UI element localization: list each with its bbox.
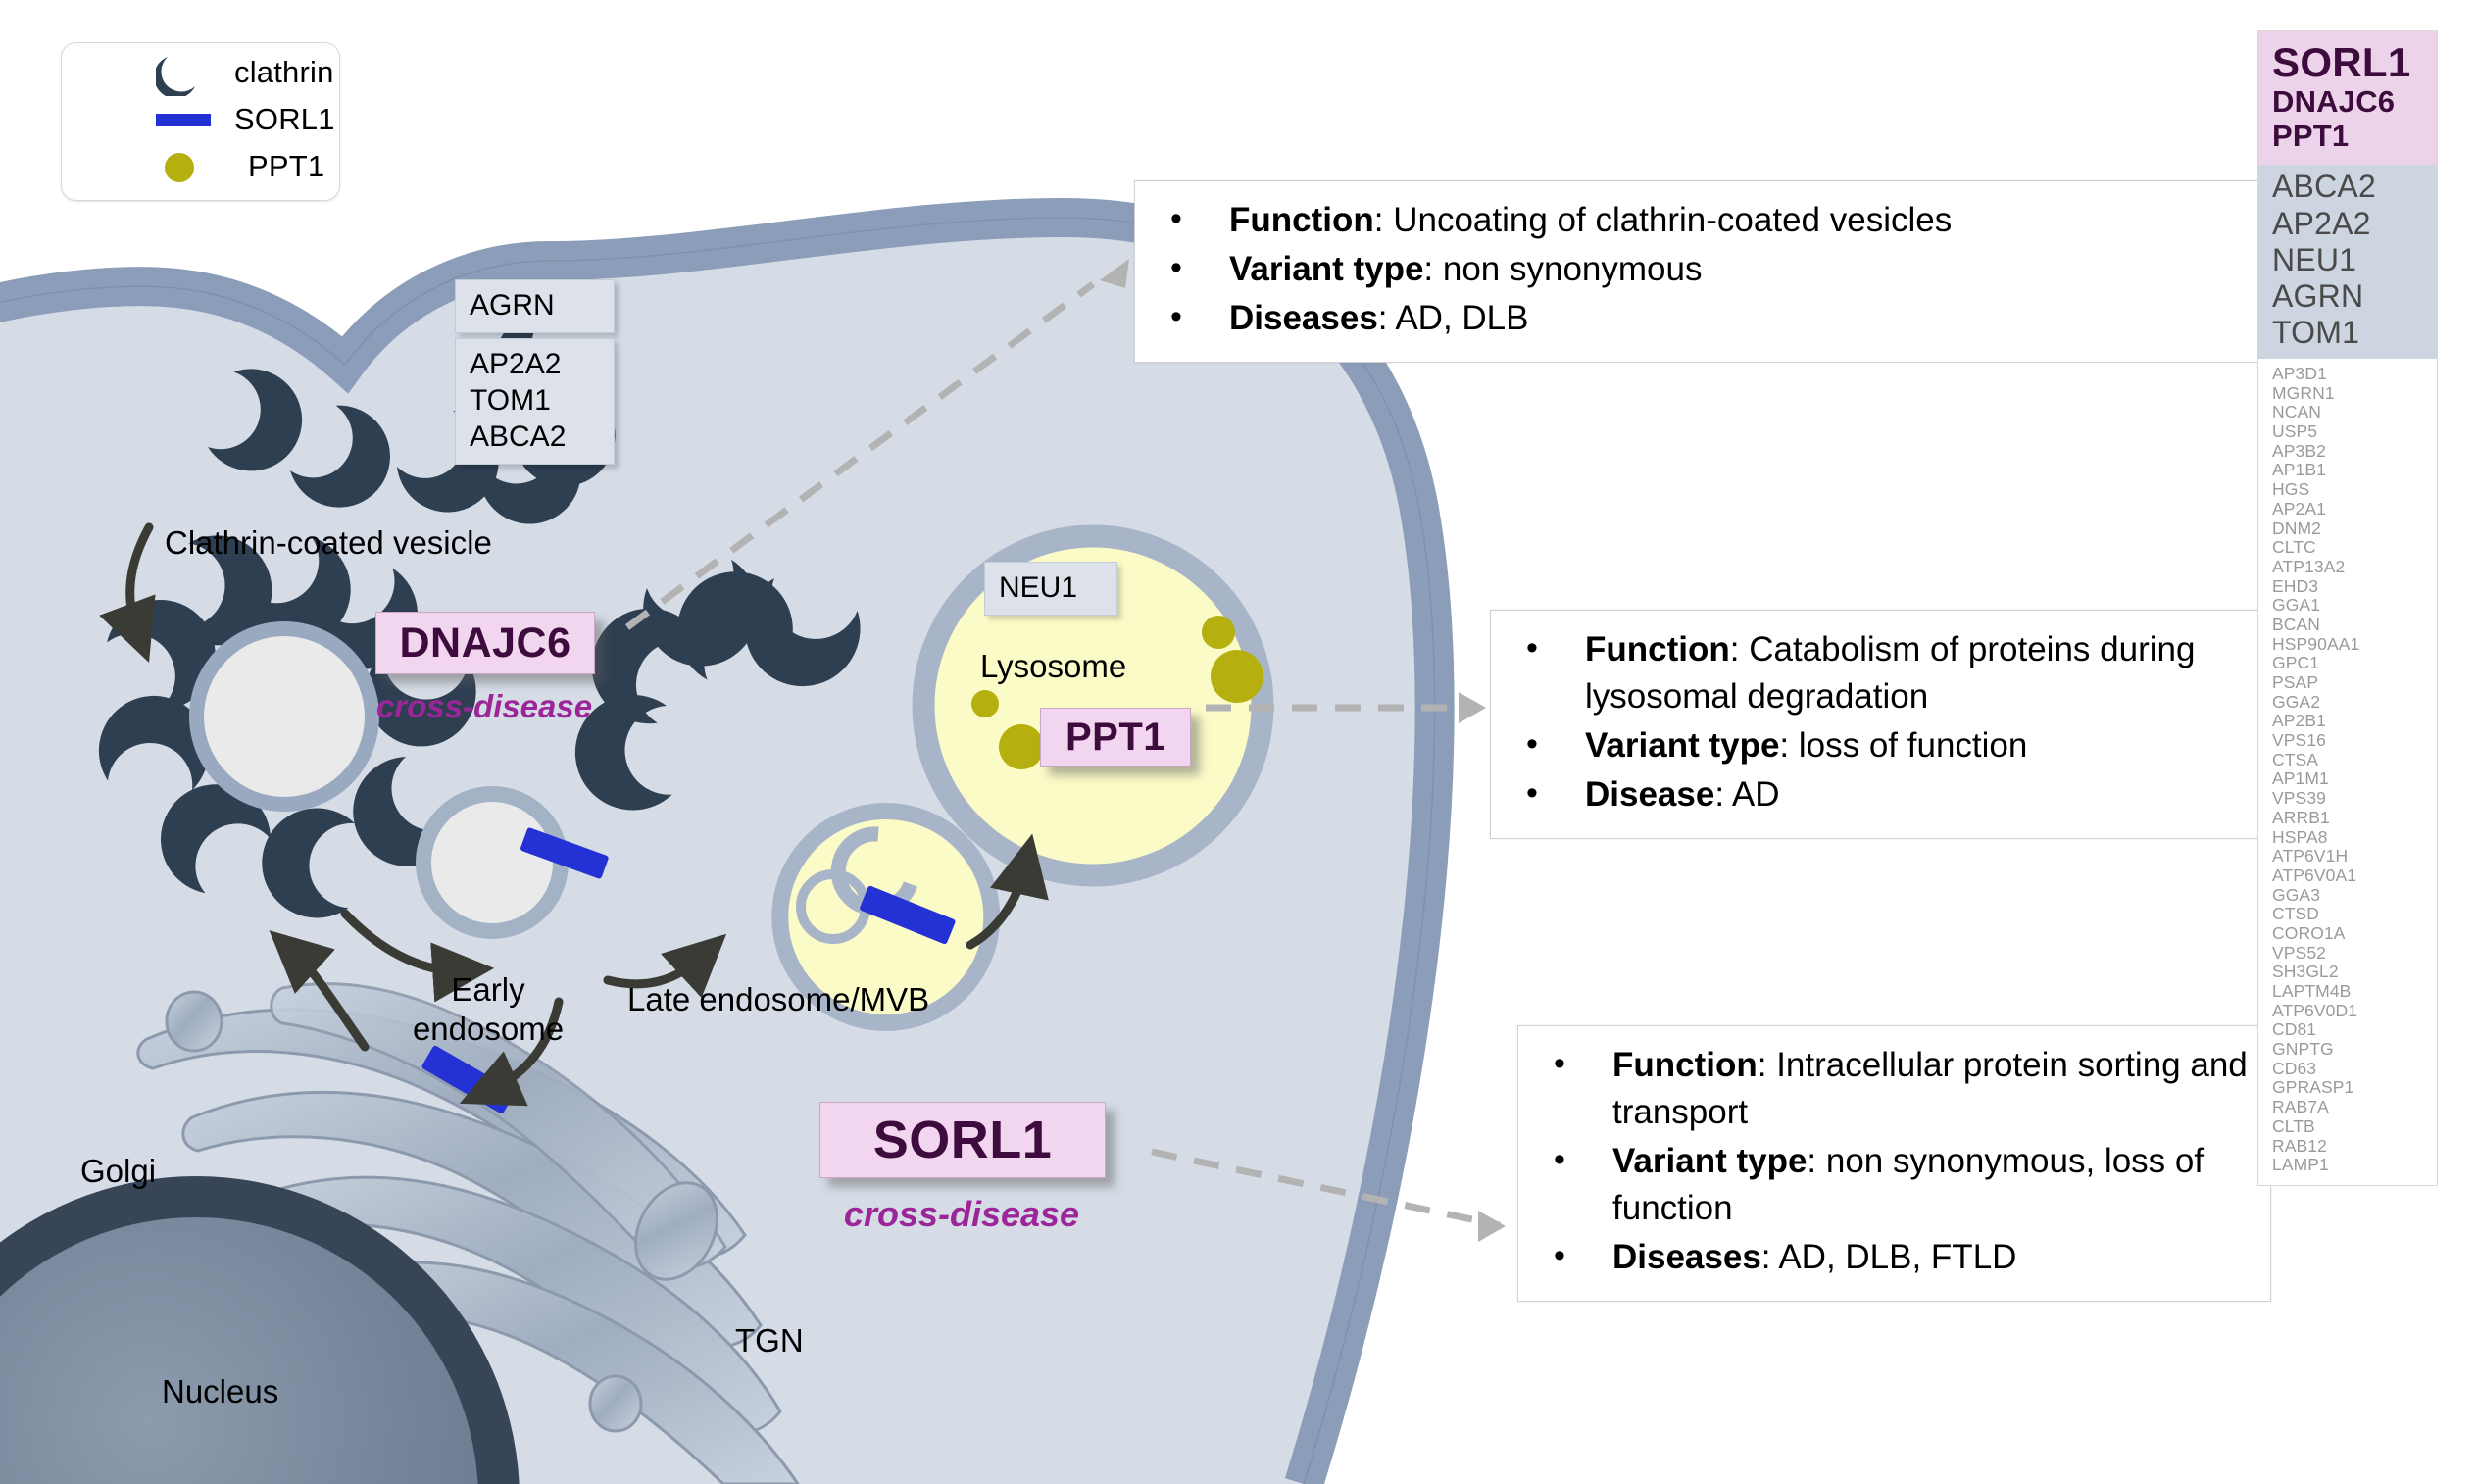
gene-list-item[interactable]: HSP90AA1 (2272, 635, 2437, 655)
label-golgi: Golgi (80, 1152, 156, 1191)
membrane-tag-agrn: AGRN (455, 279, 615, 333)
callout-sep: : (1779, 726, 1798, 765)
callout-ppt1: Function: Catabolism of proteins during … (1490, 610, 2260, 839)
diagram-canvas: clathrin SORL1 PPT1 AGRN AP2A2 TOM1 ABCA… (0, 0, 2477, 1484)
gene-list-item[interactable]: NCAN (2272, 403, 2437, 422)
legend-panel: clathrin SORL1 PPT1 (61, 42, 340, 201)
legend-item-clathrin: clathrin (62, 49, 339, 96)
gene-list-item[interactable]: AP3D1 (2272, 365, 2437, 384)
gene-list-item[interactable]: GGA1 (2272, 596, 2437, 616)
gene-list-item[interactable]: ABCA2 (2272, 169, 2437, 205)
callout-line: Diseases: AD, DLB, FTLD (1540, 1234, 2251, 1281)
gene-highlight-ppt1[interactable]: PPT1 (1040, 708, 1191, 767)
callout-line: Function: Uncoating of clathrin-coated v… (1157, 197, 2279, 244)
label-lysosome: Lysosome (980, 647, 1126, 686)
callout-sep: : (1378, 299, 1396, 337)
gene-highlight-dnajc6[interactable]: DNAJC6 (375, 612, 595, 674)
callout-sep: : (1374, 201, 1393, 239)
callout-value: loss of function (1799, 726, 2027, 765)
gene-list-item[interactable]: AP2A2 (2272, 206, 2437, 242)
gene-list-item[interactable]: NEU1 (2272, 242, 2437, 278)
gene-list-panel[interactable]: SORL1 DNAJC6 PPT1 ABCA2 AP2A2 NEU1 AGRN … (2257, 30, 2438, 1186)
gene-list-item[interactable]: TOM1 (2272, 315, 2437, 351)
legend-label-ppt1: PPT1 (248, 149, 324, 184)
gene-list-item[interactable]: VPS52 (2272, 944, 2437, 964)
gene-list-item[interactable]: VPS16 (2272, 731, 2437, 751)
gene-list-item[interactable]: CLTC (2272, 538, 2437, 558)
gene-list-item[interactable]: CORO1A (2272, 924, 2437, 944)
callout-label: Function (1612, 1046, 1758, 1084)
gene-list-item[interactable]: AP1M1 (2272, 769, 2437, 789)
legend-item-ppt1: PPT1 (62, 143, 339, 190)
callout-label: Diseases (1612, 1238, 1761, 1276)
gene-list-item[interactable]: RAB12 (2272, 1137, 2437, 1157)
label-nucleus: Nucleus (162, 1372, 278, 1411)
callout-label: Variant type (1612, 1142, 1807, 1180)
gene-list-item[interactable]: GGA2 (2272, 693, 2437, 713)
callout-value: AD, DLB, FTLD (1778, 1238, 2016, 1276)
gene-list-item[interactable]: AP1B1 (2272, 461, 2437, 480)
label-clathrin-coated-vesicle: Clathrin-coated vesicle (165, 523, 492, 563)
gene-list-item[interactable]: GNPTG (2272, 1040, 2437, 1060)
callout-value: AD, DLB (1395, 299, 1528, 337)
gene-list-item[interactable]: ARRB1 (2272, 809, 2437, 828)
gene-list-item[interactable]: PPT1 (2272, 120, 2437, 154)
callout-label: Function (1229, 201, 1374, 239)
gene-list-item[interactable]: ATP6V0A1 (2272, 866, 2437, 886)
gene-list-item[interactable]: ATP13A2 (2272, 558, 2437, 577)
sorl1-bar-icon (156, 96, 211, 143)
callout-dnajc6: Function: Uncoating of clathrin-coated v… (1134, 180, 2300, 363)
gene-list-item[interactable]: LAMP1 (2272, 1156, 2437, 1175)
callout-sep: : (1758, 1046, 1776, 1084)
gene-list-tier1: SORL1 DNAJC6 PPT1 (2258, 31, 2437, 165)
gene-list-item[interactable]: RAB7A (2272, 1098, 2437, 1117)
callout-label: Variant type (1585, 726, 1779, 765)
gene-list-item[interactable]: CTSA (2272, 751, 2437, 770)
gene-list-item[interactable]: EHD3 (2272, 577, 2437, 597)
gene-list-tier3: AP3D1MGRN1NCANUSP5AP3B2AP1B1HGSAP2A1DNM2… (2258, 359, 2437, 1185)
gene-list-item[interactable]: BCAN (2272, 616, 2437, 635)
callout-label: Diseases (1229, 299, 1378, 337)
gene-list-item[interactable]: CD63 (2272, 1060, 2437, 1079)
callout-line: Diseases: AD, DLB (1157, 295, 2279, 342)
callout-value: AD (1732, 775, 1780, 814)
gene-list-item[interactable]: GPRASP1 (2272, 1078, 2437, 1098)
label-early-endosome: Early endosome (390, 970, 586, 1049)
callout-label: Function (1585, 630, 1730, 668)
gene-list-item[interactable]: GPC1 (2272, 654, 2437, 673)
gene-list-item[interactable]: PSAP (2272, 673, 2437, 693)
gene-list-tier2: ABCA2 AP2A2 NEU1 AGRN TOM1 (2258, 165, 2437, 359)
callout-value: non synonymous (1443, 250, 1703, 288)
callout-sep: : (1730, 630, 1749, 668)
legend-item-sorl1: SORL1 (62, 96, 339, 143)
lysosome-tag-neu1: NEU1 (984, 562, 1117, 616)
gene-list-item[interactable]: CLTB (2272, 1117, 2437, 1137)
gene-list-item[interactable]: SH3GL2 (2272, 963, 2437, 982)
gene-list-item[interactable]: GGA3 (2272, 886, 2437, 906)
gene-list-item[interactable]: USP5 (2272, 422, 2437, 442)
legend-label-clathrin: clathrin (234, 55, 334, 90)
callout-value: Uncoating of clathrin-coated vesicles (1393, 201, 1952, 239)
gene-list-item[interactable]: AP2A1 (2272, 500, 2437, 519)
gene-list-item[interactable]: CD81 (2272, 1020, 2437, 1040)
callout-sorl1: Function: Intracellular protein sorting … (1517, 1025, 2271, 1302)
callout-sep: : (1423, 250, 1442, 288)
cross-disease-label-sorl1: cross-disease (819, 1194, 1104, 1235)
callout-line: Function: Intracellular protein sorting … (1540, 1042, 2251, 1136)
callout-line: Disease: AD (1512, 771, 2240, 818)
callout-sep: : (1714, 775, 1732, 814)
gene-list-item[interactable]: MGRN1 (2272, 384, 2437, 404)
gene-list-item[interactable]: HGS (2272, 480, 2437, 500)
gene-list-item[interactable]: DNAJC6 (2272, 85, 2437, 120)
gene-list-item[interactable]: ATP6V1H (2272, 847, 2437, 866)
gene-list-item[interactable]: SORL1 (2272, 39, 2437, 85)
membrane-tag-cluster: AP2A2 TOM1 ABCA2 (455, 338, 615, 465)
gene-highlight-sorl1[interactable]: SORL1 (819, 1102, 1106, 1178)
callout-line: Variant type: non synonymous, loss of fu… (1540, 1138, 2251, 1232)
gene-list-item[interactable]: ATP6V0D1 (2272, 1002, 2437, 1021)
callout-sep: : (1761, 1238, 1779, 1276)
gene-list-item[interactable]: AP2B1 (2272, 712, 2437, 731)
label-late-endosome: Late endosome/MVB (627, 980, 929, 1019)
gene-list-item[interactable]: LAPTM4B (2272, 982, 2437, 1002)
callout-sep: : (1807, 1142, 1825, 1180)
gene-list-item[interactable]: AGRN (2272, 278, 2437, 315)
callout-line: Function: Catabolism of proteins during … (1512, 626, 2240, 720)
gene-list-item[interactable]: AP3B2 (2272, 442, 2437, 462)
gene-list-item[interactable]: DNM2 (2272, 519, 2437, 539)
label-tgn: TGN (735, 1321, 804, 1360)
callout-label: Variant type (1229, 250, 1423, 288)
cross-disease-label-dnajc6: cross-disease (375, 688, 593, 725)
ppt1-dot-icon (156, 143, 211, 190)
callout-label: Disease (1585, 775, 1714, 814)
gene-list-item[interactable]: HSPA8 (2272, 828, 2437, 848)
callout-line: Variant type: non synonymous (1157, 246, 2279, 293)
legend-label-sorl1: SORL1 (234, 102, 335, 137)
gene-list-item[interactable]: CTSD (2272, 905, 2437, 924)
gene-list-item[interactable]: VPS39 (2272, 789, 2437, 809)
clathrin-crescent-icon (156, 49, 211, 96)
callout-line: Variant type: loss of function (1512, 722, 2240, 769)
